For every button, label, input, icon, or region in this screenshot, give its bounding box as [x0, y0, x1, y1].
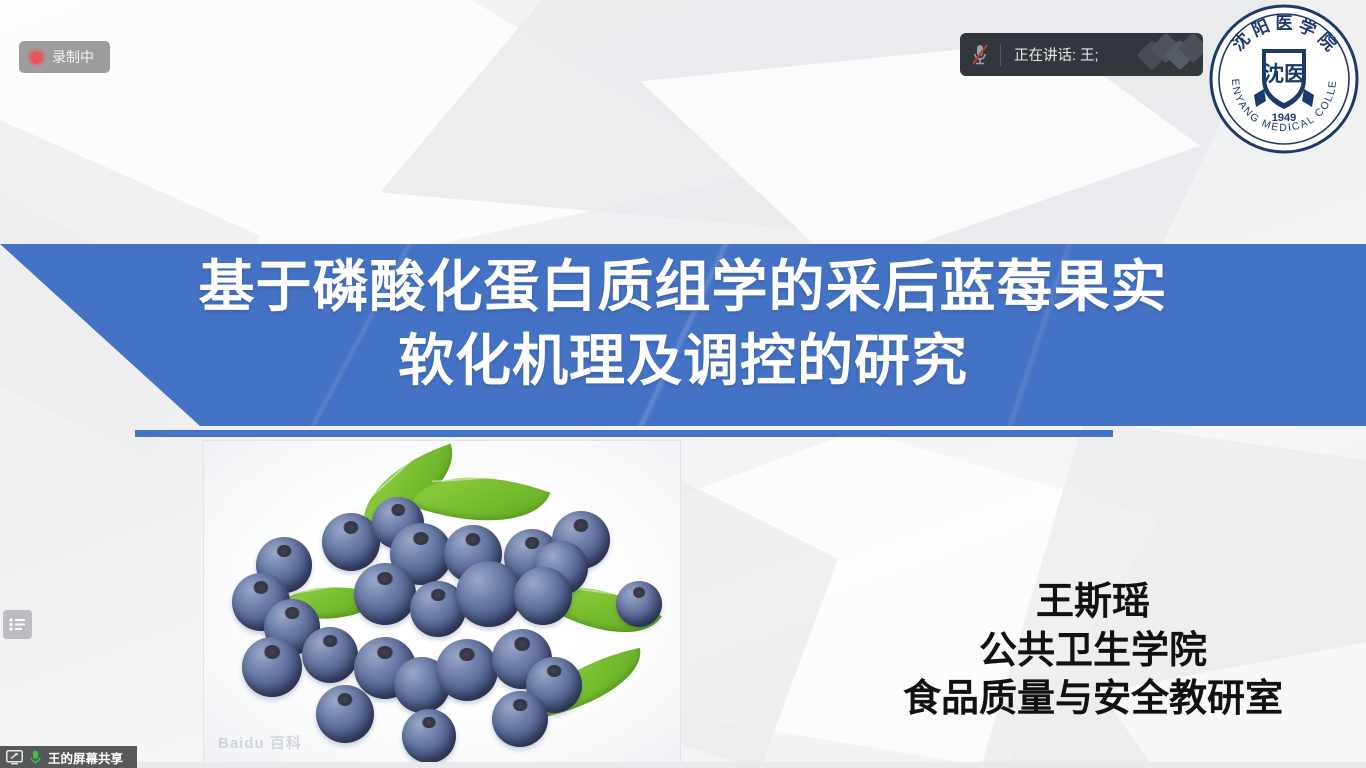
berry [492, 691, 548, 747]
screen-share-icon[interactable] [6, 750, 23, 765]
microphone-muted-icon[interactable] [960, 43, 1000, 67]
berry [436, 639, 498, 701]
photo-canvas: Baidu 百科 [204, 441, 680, 763]
microphone-on-icon[interactable] [30, 750, 41, 765]
record-dot-icon [30, 51, 43, 64]
title-underline-rule [135, 430, 1113, 437]
recording-label: 录制中 [52, 47, 94, 67]
active-speaker-label: 正在讲话: 王; [1001, 44, 1139, 65]
svg-text:1949: 1949 [1272, 112, 1296, 124]
participants-list-button[interactable] [3, 610, 32, 639]
svg-text:沈医: 沈医 [1263, 62, 1305, 86]
berry [302, 627, 358, 683]
blueberries-photo: Baidu 百科 [204, 441, 680, 763]
berry [316, 685, 374, 743]
photo-watermark: Baidu 百科 [218, 732, 302, 753]
berry [616, 581, 662, 627]
presenter-department: 食品质量与安全教研室 [858, 675, 1328, 724]
berry [402, 709, 456, 763]
presenter-school: 公共卫生学院 [858, 627, 1328, 676]
presenter-name: 王斯瑶 [858, 578, 1328, 627]
berry [514, 567, 572, 625]
speaking-wave-icon [1139, 33, 1203, 76]
bottom-strip [0, 762, 1366, 768]
berry [242, 637, 302, 697]
slide-title: 基于磷酸化蛋白质组学的采后蓝莓果实 软化机理及调控的研究 [0, 250, 1366, 398]
shenyang-medical-college-logo: 沈 阳 医 学 院 SHENYANG MEDICAL COLLEGE 沈医 19… [1206, 3, 1362, 155]
active-speaker-bar[interactable]: 正在讲话: 王; [960, 33, 1203, 76]
berry [456, 561, 522, 627]
screen-share-viewport: 基于磷酸化蛋白质组学的采后蓝莓果实 软化机理及调控的研究 [0, 0, 1366, 768]
screen-share-status-bar[interactable]: 王的屏幕共享 [0, 746, 137, 768]
recording-badge: 录制中 [19, 41, 110, 73]
screen-share-label: 王的屏幕共享 [48, 748, 123, 767]
berry [354, 563, 416, 625]
presenter-info: 王斯瑶 公共卫生学院 食品质量与安全教研室 [858, 578, 1328, 724]
